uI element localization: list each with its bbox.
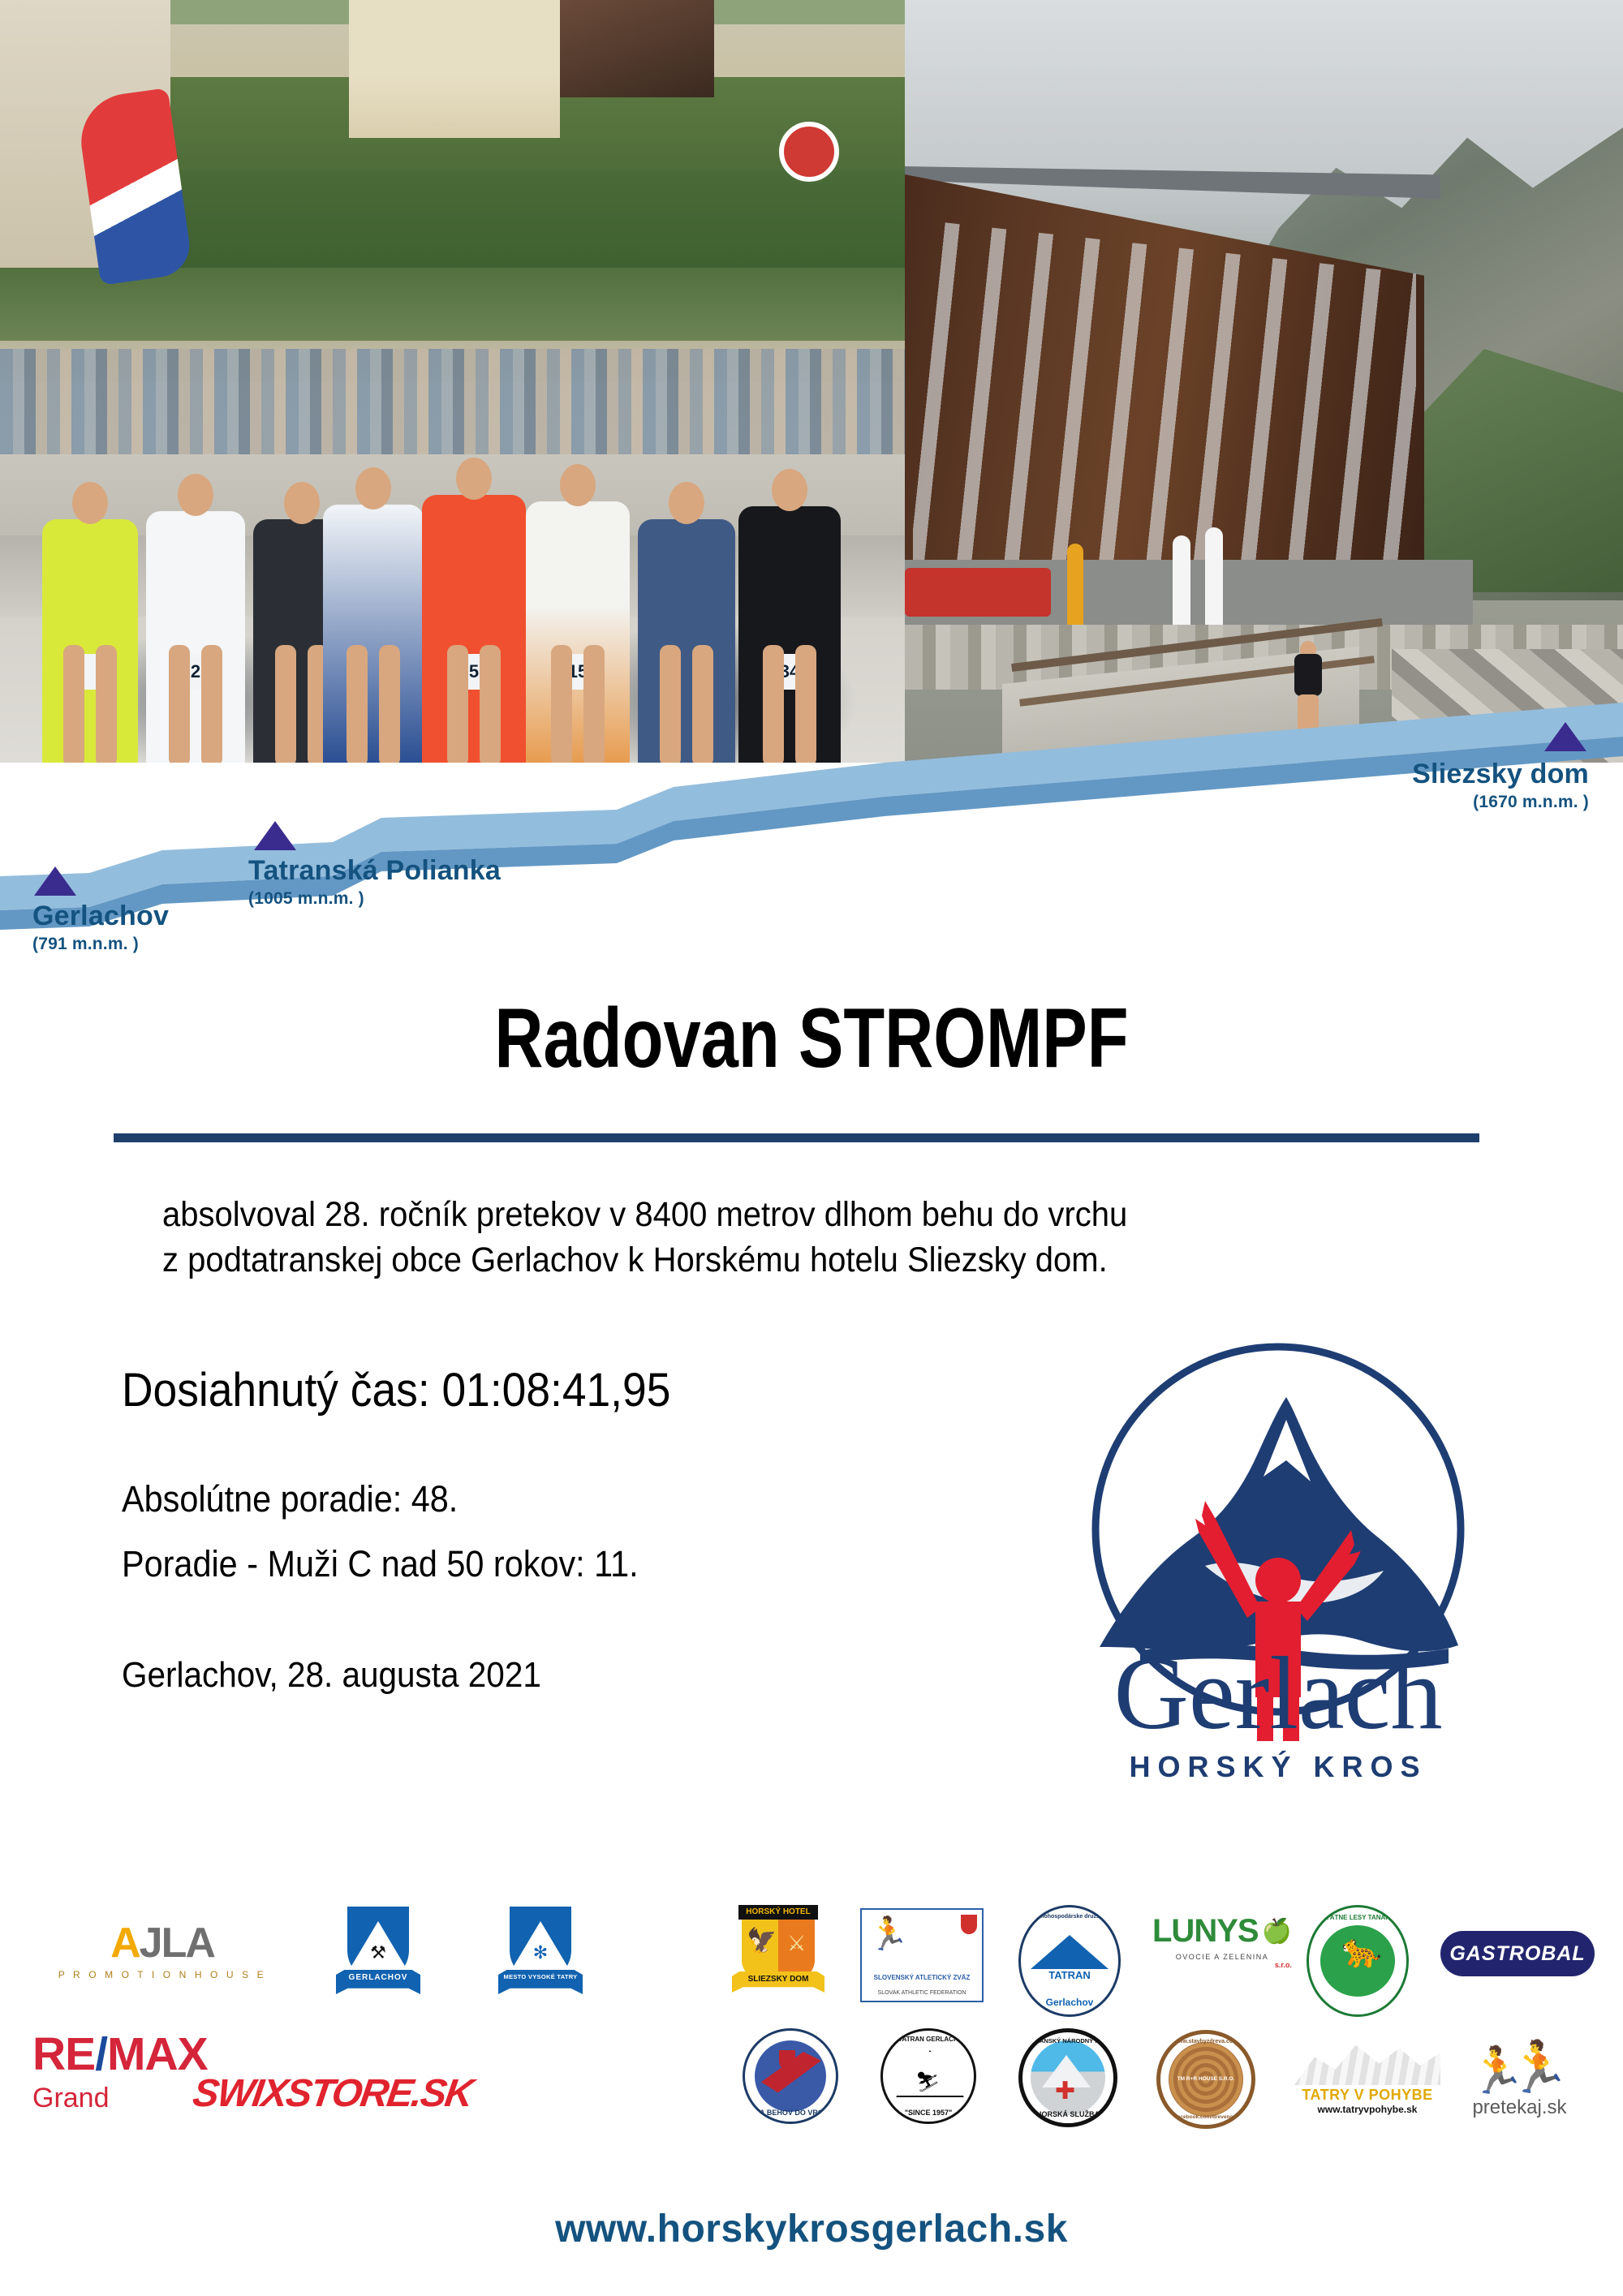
saz-athlete-icon: 🏃 [868,1918,909,1950]
saz-top-text: SLOVENSKÝ ATLETICKÝ ZVÄZ [862,1974,982,1981]
sliezsky-dom-eagle-icon: 🦅 [747,1929,777,1954]
certificate-body: Radovan STROMPF absolvoval 28. ročník pr… [0,933,1623,1081]
event-flag [1173,535,1190,625]
lunys-suffix: s.r.o. [1275,1961,1292,1969]
event-flag [1067,544,1083,625]
runner-front [638,519,735,763]
pretekaj-wordmark: pretekaj.sk [1472,2096,1566,2119]
athlete-name: Radovan STROMPF [162,996,1461,1081]
tatry-url: www.tatryvpohybe.sk [1318,2104,1418,2115]
intro-line-1: absolvoval 28. ročník pretekov v 8400 me… [162,1193,1385,1238]
ajla-mark-initial: A [110,1920,140,1967]
sponsor-pretekaj-sk: 🏃 🏃 pretekaj.sk [1469,2036,1570,2119]
village-roof [560,0,714,97]
crest-flower-icon: ✻ [533,1942,548,1963]
gastrobal-wordmark: GASTROBAL [1449,1942,1585,1966]
photo-banner: 2 5 15 34 [0,0,1623,763]
tanap-red-cross-icon: ✚ [1055,2079,1075,2104]
elevation-point-name: Tatranská Polianka [248,857,501,884]
event-website[interactable]: www.horskykrosgerlach.sk [0,2207,1623,2251]
hotel-windows [913,219,1416,560]
marker-triangle-tatranska-polianka [254,821,296,850]
race-start-photo: 2 5 15 34 [0,0,905,763]
sponsor-slovensky-atleticky-zvaz: 🏃 SLOVENSKÝ ATLETICKÝ ZVÄZ SLOVAK ATHLET… [860,1908,984,2002]
runner-legs [167,645,224,763]
finish-time-value: 01:08:41,95 [441,1364,670,1417]
sl-tanap-chamois-icon: 🐆 [1341,1935,1382,1967]
sponsor-tatry-v-pohybe: TATRY V POHYBE www.tatryvpohybe.sk [1294,2036,1440,2115]
sponsor-strip: AJLA P R O M O T I O N H O U S E RE/MAX … [0,1890,1623,2182]
ajla-wordmark: AJLA [110,1922,214,1964]
pd-tatran-top-text: Poľnohospodárske družstvo [1021,1914,1118,1920]
remax-suffix: Grand [32,2083,110,2114]
rank-absolute: Absolútne poradie: 48. [122,1478,458,1520]
sliezsky-dom-photo [905,0,1623,763]
sponsor-mesto-vysoke-tatry: ✻ MESTO VYSOKÉ TATRY [503,1907,578,2004]
pretekaj-runner-icon-dark: 🏃 [1508,2043,1570,2093]
stavby-top-text: www.stavbyzdreva.com [1160,2039,1251,2044]
tanap-bottom-text: HORSKÁ SLUŽBA [1022,2110,1113,2118]
runner-head [355,467,391,510]
gerlach-horsky-kros-logo: Gerlach HORSKÝ KROS [1043,1322,1513,1809]
crest-hammers-icon: ⚒ [370,1942,386,1963]
crest-ribbon-text: MESTO VYSOKÉ TATRY [503,1973,578,1980]
event-flag [1205,527,1223,625]
elevation-point-altitude: (1670 m.n.m. ) [1354,793,1589,810]
sponsor-ajla: AJLA P R O M O T I O N H O U S E [45,1907,280,1996]
sponsor-unia-behov-do-vrchu: ÚNIA BEHOV DO VRCHU [743,2028,838,2124]
crest-ribbon-text: GERLACHOV [341,1973,415,1982]
runner-front [42,519,138,763]
tj-tatran-bottom-text: "SINCE 1957" [883,2109,974,2117]
runner-front: 15 [526,501,630,763]
runner-head [560,464,596,506]
sliezsky-dom-chalice-icon: ⚔ [787,1933,806,1954]
runner-legs [549,645,606,763]
intro-line-2: z podtatranskej obce Gerlachov k Horském… [162,1238,1385,1283]
unia-ribbon-text: ÚNIA BEHOV DO VRCHU [745,2109,836,2117]
remax-part-re: RE [32,2028,95,2080]
runner-front [323,505,424,763]
runner-front: 5 [422,495,526,763]
village-house [349,0,560,138]
sl-tanap-top-text: ŠTÁTNE LESY TANAPu [1309,1914,1406,1921]
tatry-wordmark: TATRY V POHYBE [1302,2087,1432,2104]
sponsor-tanap-horska-sluzba: ✚ TATRANSKÝ NÁRODNÝ PARK HORSKÁ SLUŽBA [1018,2028,1117,2127]
logo-wordmark: Gerlach [1113,1636,1442,1751]
sponsor-stavby-z-dreva: www.stavbyzdreva.com TM R+R HOUSE S.R.O.… [1156,2030,1255,2129]
finish-time-row: Dosiahnutý čas: 01:08:41,95 [122,1363,670,1417]
runner-front: 34 [738,506,841,763]
pd-tatran-bottom-text: Gerlachov [1021,1997,1118,2008]
remax-slash: / [95,2028,107,2080]
sponsor-lunys: LUNYS 🍏 OVOCIE A ZELENINA s.r.o. [1152,1913,1292,1969]
sponsor-obec-gerlachov: ⚒ GERLACHOV [341,1907,415,2004]
runner-legs [658,645,715,763]
sponsor-pd-tatran-gerlachov: Poľnohospodárske družstvo TATRAN Gerlach… [1018,1905,1121,2017]
ajla-mark-rest: JLA [140,1920,214,1967]
elevation-point-name: Gerlachov [32,902,169,930]
sponsor-sliezsky-dom: HORSKÝ HOTEL 🦅 ⚔ SLIEZSKY DOM [730,1905,826,2002]
runner-head [669,482,704,524]
marker-triangle-gerlachov [34,866,76,896]
runner-head [284,482,320,524]
trail-runner [1294,641,1322,738]
logo-subtitle: HORSKÝ KROS [1129,1750,1427,1783]
sliezsky-dom-ribbon-text: SLIEZSKY DOM [730,1975,826,1984]
saz-slovak-emblem [961,1915,977,1934]
title-divider [114,1133,1479,1142]
runner-legs [273,645,330,763]
stavby-bottom-text: www.facebook.com/drevenostavby [1160,2114,1251,2120]
runner-head [772,469,807,511]
elevation-band-dark [0,737,1623,930]
finish-time-label: Dosiahnutý čas: [122,1364,430,1417]
sliezsky-dom-top-text: HORSKÝ HOTEL [738,1905,818,1920]
pd-tatran-mountain [1031,1935,1109,1969]
parked-vehicle [905,568,1051,617]
lunys-wordmark: LUNYS [1152,1913,1259,1950]
remax-wordmark: RE/MAX [32,2032,208,2078]
elevation-label-sliezsky-dom: Sliezsky dom (1670 m.n.m. ) [1354,760,1589,810]
stavby-mid-text: TM R+R HOUSE S.R.O. [1160,2076,1251,2082]
swixstore-wordmark: SWIXSTORE.SK [191,2071,476,2116]
tj-tatran-skier-icon: ⛷ [915,2073,940,2092]
runner-legs [62,645,118,763]
runner-legs [761,645,818,763]
sponsor-statne-lesy-tanapu: ŠTÁTNE LESY TANAPu 🐆 Tatranská Lomnica [1307,1905,1409,2017]
tanap-top-text: TATRANSKÝ NÁRODNÝ PARK [1022,2037,1113,2044]
lunys-caption: OVOCIE A ZELENINA [1176,1953,1269,1961]
runner-head [456,458,492,500]
runner-legs [345,645,402,763]
saz-bottom-text: SLOVAK ATHLETIC FEDERATION [862,1990,982,1996]
rank-category: Poradie - Muži C nad 50 rokov: 11. [122,1543,639,1585]
stop-sign [779,122,839,182]
runner-front: 2 [146,511,245,763]
remax-part-max: MAX [107,2028,208,2080]
sponsor-swixstore: SWIXSTORE.SK [199,2061,467,2126]
elevation-point-name: Sliezsky dom [1354,760,1589,788]
lunys-apple-icon: 🍏 [1262,1917,1292,1946]
sl-tanap-bottom-text: Tatranská Lomnica [1309,2001,1406,2008]
tj-tatran-top-text: TJ TATRAN GERLACHOV [883,2036,974,2043]
ajla-caption: P R O M O T I O N H O U S E [58,1969,267,1980]
tatry-mountain-silhouette [1294,2036,1440,2085]
runner-head [178,474,213,516]
sponsor-tj-tatran-gerlachov: ⛷ TJ TATRAN GERLACHOV "SINCE 1957" [880,2028,976,2124]
certificate-intro: absolvoval 28. ročník pretekov v 8400 me… [162,1193,1385,1283]
unia-slovak-emblem [779,2050,795,2070]
sponsor-gastrobal: GASTROBAL [1440,1931,1595,1976]
runner-head [72,482,108,524]
spectator-crowd [0,349,905,454]
boulder-field [1392,649,1623,763]
elevation-label-tatranska-polianka: Tatranská Polianka (1005 m.n.m. ) [248,857,501,907]
place-and-date: Gerlachov, 28. augusta 2021 [122,1655,541,1696]
elevation-point-altitude: (1005 m.n.m. ) [248,890,501,907]
pd-tatran-mid-text: TATRAN [1021,1969,1118,1981]
runner-legs [446,645,502,763]
